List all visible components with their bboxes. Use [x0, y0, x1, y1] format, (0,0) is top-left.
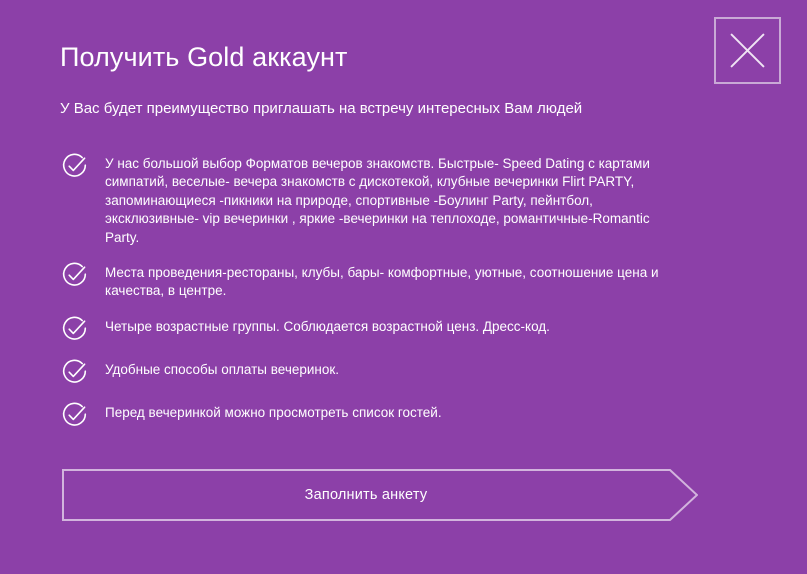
list-item-label: Места проведения-рестораны, клубы, бары-… — [105, 261, 685, 301]
check-circle-icon — [60, 315, 89, 344]
list-item-label: Четыре возрастные группы. Соблюдается во… — [105, 315, 685, 336]
page-subtitle: У Вас будет преимущество приглашать на в… — [60, 98, 582, 120]
list-item: Места проведения-рестораны, клубы, бары-… — [60, 261, 685, 301]
page-title: Получить Gold аккаунт — [60, 40, 348, 74]
gold-account-promo-panel: Получить Gold аккаунт У Вас будет преиму… — [0, 0, 807, 574]
list-item-label: У нас большой выбор Форматов вечеров зна… — [105, 152, 685, 247]
close-icon — [716, 19, 779, 82]
list-item: У нас большой выбор Форматов вечеров зна… — [60, 152, 685, 247]
check-circle-icon — [60, 401, 89, 430]
list-item-label: Перед вечеринкой можно просмотреть списо… — [105, 401, 685, 422]
list-item-label: Удобные способы оплаты вечеринок. — [105, 358, 685, 379]
benefits-list: У нас большой выбор Форматов вечеров зна… — [60, 152, 685, 430]
fill-questionnaire-label: Заполнить анкету — [62, 469, 670, 521]
fill-questionnaire-button[interactable]: Заполнить анкету — [62, 469, 698, 521]
list-item: Четыре возрастные группы. Соблюдается во… — [60, 315, 685, 344]
list-item: Перед вечеринкой можно просмотреть списо… — [60, 401, 685, 430]
close-button[interactable] — [714, 17, 781, 84]
check-circle-icon — [60, 358, 89, 387]
check-circle-icon — [60, 152, 89, 181]
list-item: Удобные способы оплаты вечеринок. — [60, 358, 685, 387]
check-circle-icon — [60, 261, 89, 290]
